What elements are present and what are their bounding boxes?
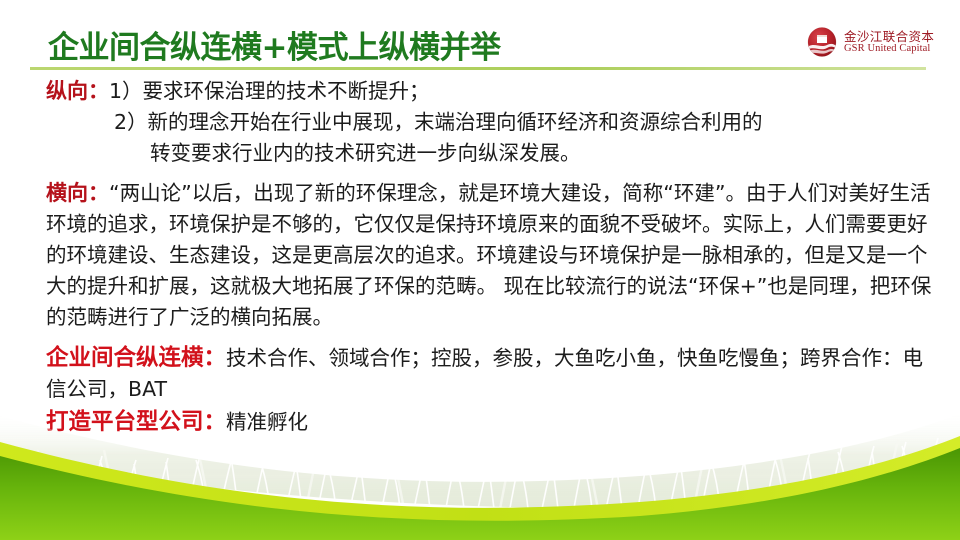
title-divider-rule [30,67,926,70]
section-enterprise-label: 企业间合纵连横： [46,345,226,371]
brand-logo-text: 金沙江联合资本 GSR United Capital [844,30,934,54]
slide-root: 金沙江联合资本 GSR United Capital 企业间合纵连横+模式上纵横… [0,0,960,540]
section-vertical-label: 纵向： [46,79,109,103]
brand-name-english: GSR United Capital [844,43,934,54]
brand-logo: 金沙江联合资本 GSR United Capital [806,22,946,62]
gsr-circular-emblem-icon [806,26,838,58]
section-vertical-item-1: 1）要求环保治理的技术不断提升； [109,79,430,103]
section-platform-text: 精准孵化 [226,410,308,434]
section-platform-label: 打造平台型公司： [46,409,226,435]
section-vertical-item-2: 2）新的理念开始在行业中展现，末端治理向循环经济和资源综合利用的 [114,110,763,134]
section-horizontal-label: 横向： [46,181,109,205]
section-enterprise: 企业间合纵连横：技术合作、领域合作；控股，参股，大鱼吃小鱼，快鱼吃慢鱼；跨界合作… [46,343,932,405]
slide-body: 纵向：1）要求环保治理的技术不断提升；2）新的理念开始在行业中展现，末端治理向循… [46,76,932,438]
section-horizontal-text: “两山论”以后，出现了新的环保理念，就是环境大建设，简称“环建”。由于人们对美好… [46,181,931,329]
brand-name-chinese: 金沙江联合资本 [844,30,934,43]
section-vertical: 纵向：1）要求环保治理的技术不断提升；2）新的理念开始在行业中展现，末端治理向循… [46,76,932,169]
section-horizontal: 横向：“两山论”以后，出现了新的环保理念，就是环境大建设，简称“环建”。由于人们… [46,178,932,333]
slide-title: 企业间合纵连横+模式上纵横并举 [48,22,500,67]
section-platform: 打造平台型公司：精准孵化 [46,407,932,438]
section-vertical-item-3: 转变要求行业内的技术研究进一步向纵深发展。 [150,141,581,165]
